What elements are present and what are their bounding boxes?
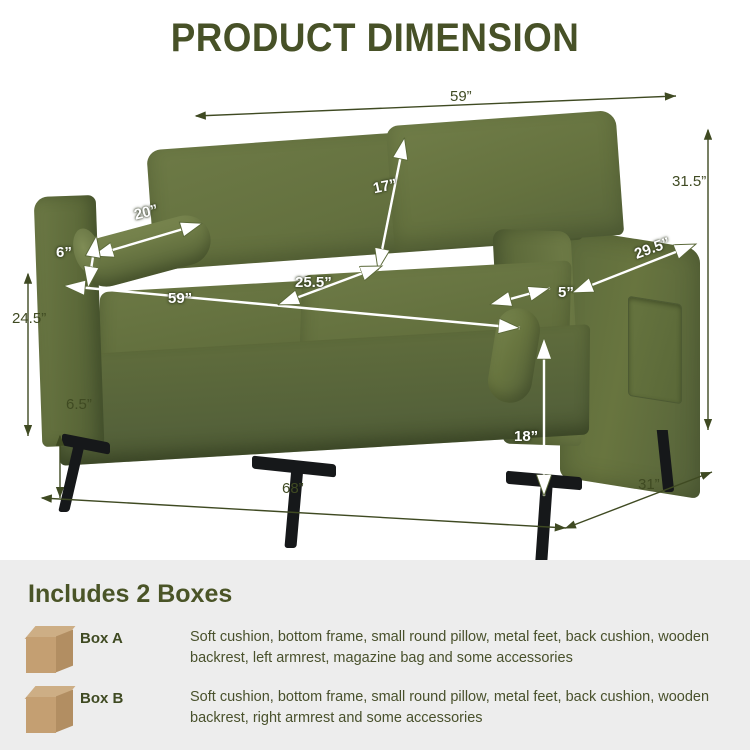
sofa-dimension-diagram: 59” 17” 31.5” 20” 6” 29.5” 5” 59” 25.5” … bbox=[0, 78, 750, 550]
box-front-face bbox=[26, 637, 56, 673]
box-b-contents: Soft cushion, bottom frame, small round … bbox=[190, 682, 734, 729]
cardboard-box-icon bbox=[24, 624, 80, 676]
dimension-label-armrest-width: 5” bbox=[558, 284, 574, 301]
dimension-label-seat-depth: 25.5” bbox=[295, 274, 332, 291]
box-b-name: Box B bbox=[80, 682, 190, 707]
packaging-heading: Includes 2 Boxes bbox=[28, 580, 232, 609]
dimension-label-overall-depth: 31” bbox=[638, 476, 660, 493]
packaging-panel: Includes 2 Boxes Box A Soft cushion, bot… bbox=[0, 560, 750, 750]
dimension-label-overall-height: 31.5” bbox=[672, 173, 706, 190]
dimension-label-base-width: 68” bbox=[282, 480, 304, 497]
box-row-b: Box B Soft cushion, bottom frame, small … bbox=[24, 682, 734, 736]
box-row-a: Box A Soft cushion, bottom frame, small … bbox=[24, 622, 734, 676]
box-side-face bbox=[56, 690, 73, 733]
box-side-face bbox=[56, 630, 73, 673]
dimension-label-overall-width-top: 59” bbox=[450, 88, 472, 105]
box-a-name: Box A bbox=[80, 622, 190, 647]
page-title: PRODUCT DIMENSION bbox=[30, 16, 720, 61]
box-front-face bbox=[26, 697, 56, 733]
dimension-label-seat-height: 18” bbox=[514, 428, 538, 445]
dimension-label-leg-height: 6.5” bbox=[66, 396, 92, 413]
box-a-contents: Soft cushion, bottom frame, small round … bbox=[190, 622, 734, 669]
dimension-label-seat-width: 59” bbox=[168, 290, 192, 307]
product-dimension-infographic: PRODUCT DIMENSION bbox=[0, 0, 750, 750]
dimension-label-pillow-diameter: 6” bbox=[56, 244, 72, 261]
dimension-label-armrest-height: 24.5” bbox=[12, 310, 46, 327]
cardboard-box-icon bbox=[24, 684, 80, 736]
